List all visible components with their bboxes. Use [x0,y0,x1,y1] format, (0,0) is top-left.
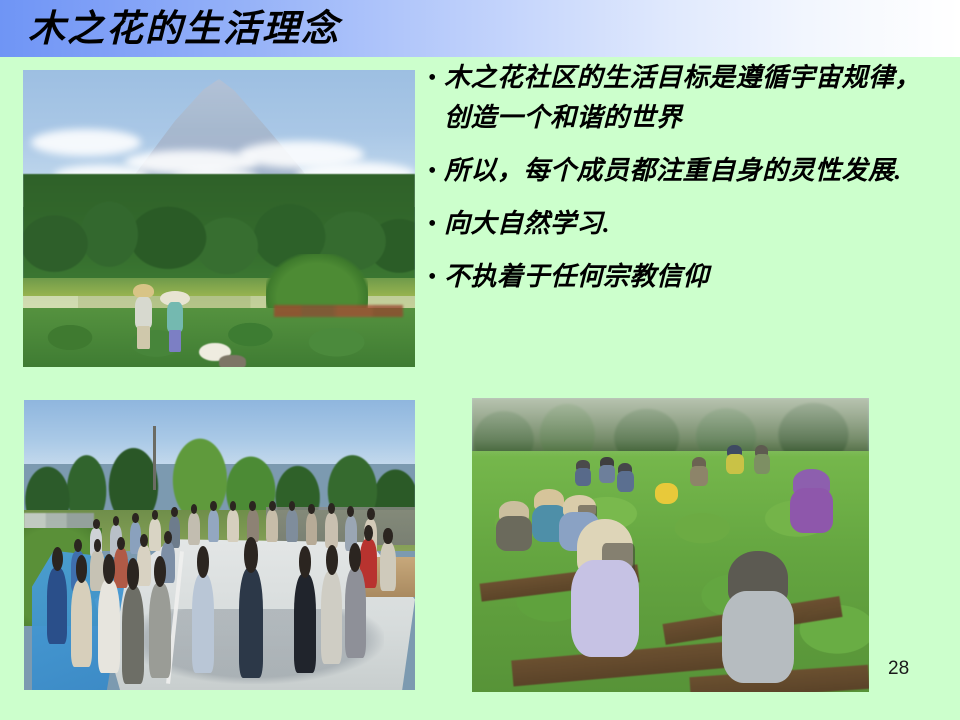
field-worker-distant [690,457,707,486]
field-worker-distant [599,457,615,483]
participant-mid [114,548,128,589]
worker-body [754,454,770,475]
bullet-item-4: • 不执着于任何宗教信仰 [428,257,928,297]
worker-body [790,488,834,533]
person-legs [137,326,149,350]
photo-people-circle [24,400,415,690]
participant-far [325,513,338,548]
yellow-sack [655,483,679,504]
flower-row [274,305,403,317]
person-with-white-hat [164,290,186,352]
bullet-item-1: • 木之花社区的生活目标是遵循宇宙规律，创造一个和谐的世界 [428,58,928,138]
cloud-1 [31,129,141,156]
participant-far [286,510,298,542]
field-worker-purple [790,469,834,534]
participant-far [149,519,161,551]
person-torso [135,297,151,328]
field-worker-distant [617,463,634,492]
bullet-text-3: 向大自然学习. [444,204,928,244]
bullet-text-2: 所以，每个成员都注重自身的灵性发展. [444,151,928,191]
page-title: 木之花的生活理念 [28,7,340,53]
field-worker-distant [754,445,770,474]
person-legs [169,330,181,352]
bullet-text-4: 不执着于任何宗教信仰 [444,257,928,297]
title-bar: 木之花的生活理念 [0,0,960,57]
page-number: 28 [888,658,909,680]
bullet-text-1: 木之花社区的生活目标是遵循宇宙规律，创造一个和谐的世界 [444,58,928,138]
rock [219,355,246,367]
photo-mount-fuji-field [23,70,415,367]
participant-near [71,580,92,667]
participant-mid [137,545,151,586]
bullet-item-3: • 向大自然学习. [428,204,928,244]
utility-pole [153,426,156,490]
worker-body [571,560,638,657]
field-worker-distant [575,460,591,486]
participant-near [345,568,366,658]
bullet-marker-icon: • [428,151,444,191]
field-worker-distant [726,445,743,474]
field-worker-mid [496,501,532,551]
participant-mid [380,542,396,591]
bullet-list: • 木之花社区的生活目标是遵循宇宙规律，创造一个和谐的世界 • 所以，每个成员都… [428,58,928,310]
field-worker-foreground-camouflage [722,551,793,683]
participant-near [192,574,214,673]
participant-near [149,583,171,679]
morning-haze [472,398,869,457]
worker-body [726,454,743,475]
bullet-marker-icon: • [428,257,444,297]
participant-near [122,586,145,685]
person-torso [167,302,183,332]
participant-far [266,510,278,542]
participant-far [208,510,220,542]
participant-near [321,571,342,664]
field-worker-foreground-lavender [571,519,638,657]
participant-far [306,513,318,545]
person-with-straw-hat [133,284,155,349]
participant-far [188,513,200,545]
slide-canvas: 木之花的生活理念 [0,0,960,720]
photo-field-work [472,398,869,692]
bullet-item-2: • 所以，每个成员都注重自身的灵性发展. [428,151,928,191]
participant-far [227,510,239,542]
participant-near [294,574,316,673]
field-worker-yellow-bag [655,474,679,503]
participant-near [47,568,67,643]
worker-body [496,516,532,551]
participant-near [98,580,120,673]
worker-body [722,591,793,684]
participant-near [239,568,263,678]
worker-body [617,471,634,492]
worker-body [599,465,615,484]
worker-body [690,466,707,487]
worker-body [575,468,591,487]
bullet-marker-icon: • [428,204,444,244]
bullet-marker-icon: • [428,58,444,98]
